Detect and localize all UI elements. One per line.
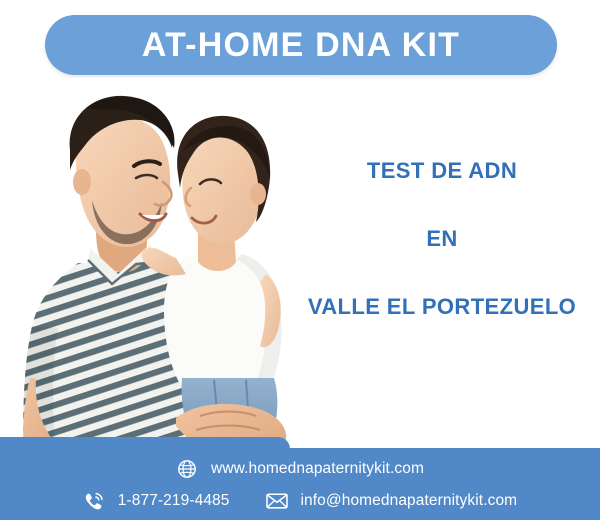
footer-row-website: www.homednapaternitykit.com xyxy=(0,454,600,484)
headline-line-1: TEST DE ADN xyxy=(292,160,592,182)
footer-email-label: info@homednapaternitykit.com xyxy=(301,493,518,509)
footer-website[interactable]: www.homednapaternitykit.com xyxy=(176,458,424,480)
footer-phone[interactable]: 1-877-219-4485 xyxy=(83,490,230,512)
footer-email[interactable]: info@homednapaternitykit.com xyxy=(266,490,518,512)
headline-line-3: VALLE EL PORTEZUELO xyxy=(292,296,592,318)
family-photo xyxy=(0,78,320,460)
headline-block: TEST DE ADN EN VALLE EL PORTEZUELO xyxy=(292,160,592,318)
globe-icon xyxy=(176,458,198,480)
envelope-icon xyxy=(266,490,288,512)
footer-phone-label: 1-877-219-4485 xyxy=(118,493,230,509)
footer-row-contact: 1-877-219-4485 info@homednapaternitykit.… xyxy=(0,486,600,516)
headline-line-2: EN xyxy=(292,228,592,250)
header-title: AT-HOME DNA KIT xyxy=(142,28,460,62)
footer-website-label: www.homednapaternitykit.com xyxy=(211,461,424,477)
phone-icon xyxy=(83,490,105,512)
header-banner: AT-HOME DNA KIT xyxy=(45,15,557,75)
footer-bar: www.homednapaternitykit.com 1-877-219-44… xyxy=(0,448,600,520)
poster-canvas: AT-HOME DNA KIT xyxy=(0,0,600,520)
